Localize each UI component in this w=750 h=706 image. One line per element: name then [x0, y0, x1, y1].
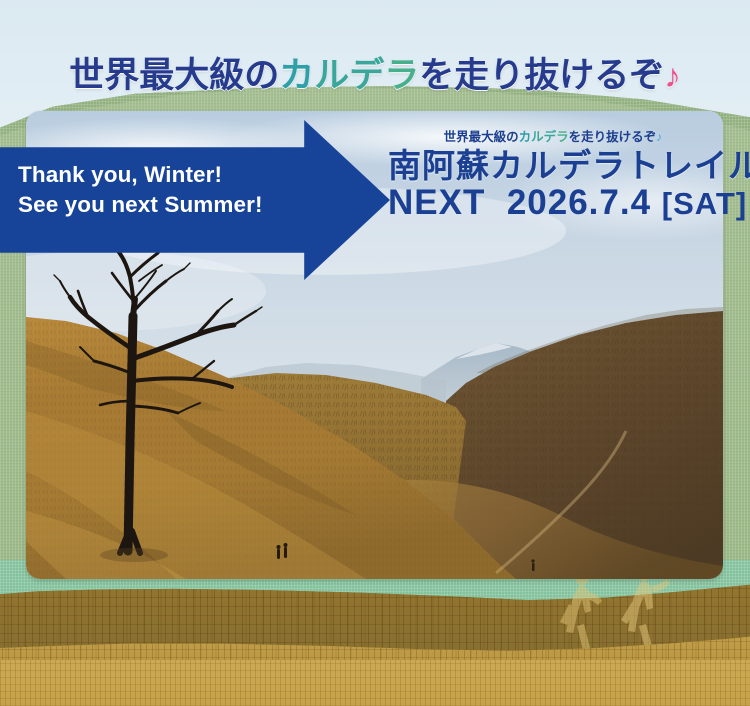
runner-figure-1: [560, 571, 602, 650]
event-logo-block: 世界最大級のカルデラを走り抜けるぞ♪ 南阿蘇カルデラトレイル NEXT 2026…: [388, 131, 718, 222]
logo-tagline-katakana-3: デ: [544, 130, 557, 144]
logo-tagline-katakana-2: ル: [531, 130, 544, 144]
announcement-line-2: See you next Summer!: [18, 190, 263, 220]
logo-tagline-katakana-4: ラ: [556, 130, 569, 144]
logo-tagline-part2: を走り抜けるぞ: [569, 130, 657, 144]
next-label: NEXT: [388, 183, 485, 222]
announcement-text: Thank you, Winter! See you next Summer!: [18, 160, 263, 219]
next-event-date: NEXT 2026.7.4 [SAT]: [388, 185, 718, 222]
event-name: 南阿蘇カルデラトレイル: [388, 148, 718, 184]
page-title: 世界最大級のカルデラを走り抜けるぞ♪: [0, 47, 750, 98]
music-note-icon: ♪: [664, 57, 681, 94]
hill-layer-front: [0, 660, 750, 706]
page-title-katakana-1: カ: [279, 56, 314, 95]
next-date-value: 2026.7.4: [507, 183, 651, 222]
logo-tagline-part1: 世界最大級の: [444, 130, 519, 144]
page-root: 世界最大級のカルデラを走り抜けるぞ♪ Thank you, Winter! Se…: [0, 0, 750, 706]
logo-tagline-katakana-1: カ: [519, 130, 532, 144]
page-title-part2: を走り抜けるぞ: [419, 56, 664, 95]
page-title-katakana-2: ル: [314, 56, 349, 95]
logo-music-note-icon: ♪: [656, 130, 662, 144]
runner-figure-2: [621, 567, 670, 652]
announcement-arrow-banner: Thank you, Winter! See you next Summer!: [0, 120, 390, 280]
logo-tagline: 世界最大級のカルデラを走り抜けるぞ♪: [388, 131, 718, 144]
page-title-katakana-4: ラ: [384, 56, 419, 95]
page-title-katakana-3: デ: [349, 56, 384, 95]
announcement-line-1: Thank you, Winter!: [18, 160, 263, 190]
next-day-value: [SAT]: [662, 186, 747, 221]
page-title-part1: 世界最大級の: [69, 56, 279, 95]
